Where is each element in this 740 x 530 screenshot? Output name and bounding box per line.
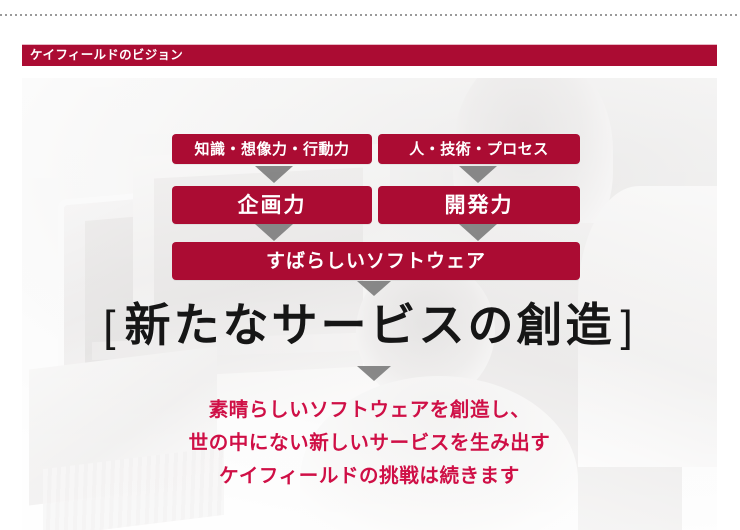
flow-row-software: すばらしいソフトウェア bbox=[22, 242, 717, 280]
flow-box-planning: 企画力 bbox=[172, 186, 372, 224]
flow-box-people-tech-process: 人・技術・プロセス bbox=[378, 134, 580, 164]
arrow-down-icon-left-2 bbox=[255, 224, 293, 241]
arrow-down-icon-right-2 bbox=[459, 224, 497, 241]
top-divider bbox=[0, 14, 740, 16]
flow-row-capabilities: 企画力 開発力 bbox=[22, 186, 717, 224]
headline-bracket-close: ] bbox=[615, 302, 642, 351]
flow-box-great-software: すばらしいソフトウェア bbox=[172, 242, 580, 280]
vision-stage: 知識・想像力・行動力 人・技術・プロセス 企画力 開発力 すばらしいソフトウェア… bbox=[22, 78, 717, 530]
vision-page: ケイフィールドのビジョン 知識・想像力・行動力 人・技術・プロセス bbox=[0, 0, 740, 530]
flow-box-knowledge: 知識・想像力・行動力 bbox=[172, 134, 372, 164]
arrow-down-icon-center-1 bbox=[357, 281, 391, 296]
page-headline: [新たなサービスの創造] bbox=[22, 300, 717, 351]
vision-message: 素晴らしいソフトウェアを創造し、 世の中にない新しいサービスを生み出す ケイフィ… bbox=[22, 394, 717, 492]
message-line-1: 素晴らしいソフトウェアを創造し、 bbox=[22, 394, 717, 427]
section-title: ケイフィールドのビジョン bbox=[22, 49, 183, 62]
flow-row-inputs: 知識・想像力・行動力 人・技術・プロセス bbox=[22, 134, 717, 164]
headline-bracket-open: [ bbox=[97, 302, 124, 351]
flow-box-development: 開発力 bbox=[378, 186, 580, 224]
message-line-2: 世の中にない新しいサービスを生み出す bbox=[22, 427, 717, 460]
arrow-down-icon-center-2 bbox=[357, 366, 391, 381]
vision-flow-diagram: 知識・想像力・行動力 人・技術・プロセス 企画力 開発力 すばらしいソフトウェア… bbox=[22, 78, 717, 530]
message-line-3: ケイフィールドの挑戦は続きます bbox=[22, 460, 717, 493]
headline-text: 新たなサービスの創造 bbox=[125, 299, 615, 351]
section-heading-bar: ケイフィールドのビジョン bbox=[22, 44, 717, 66]
arrow-down-icon-right-1 bbox=[459, 166, 497, 183]
arrow-down-icon-left-1 bbox=[255, 166, 293, 183]
